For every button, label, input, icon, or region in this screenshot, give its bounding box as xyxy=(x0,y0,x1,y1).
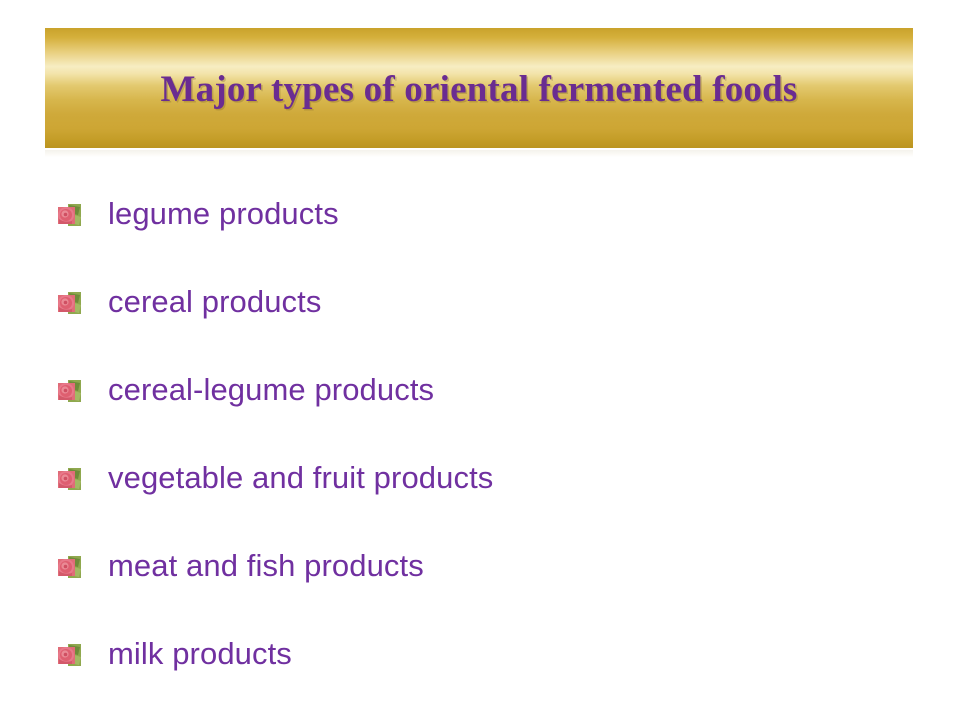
list-item-label: vegetable and fruit products xyxy=(108,450,493,493)
list-item-label: cereal products xyxy=(108,274,321,317)
presentation-slide: Major types of oriental fermented foods … xyxy=(0,0,960,720)
page-title: Major types of oriental fermented foods xyxy=(161,71,798,108)
list-item-label: milk products xyxy=(108,626,292,669)
rose-bullet-icon xyxy=(58,379,82,403)
rose-bullet-icon xyxy=(58,555,82,579)
list-item: cereal-legume products xyxy=(58,362,938,450)
rose-bullet-icon xyxy=(58,467,82,491)
list-item: cereal products xyxy=(58,274,938,362)
title-banner: Major types of oriental fermented foods xyxy=(45,28,913,148)
list-item: milk products xyxy=(58,626,938,714)
list-item-label: meat and fish products xyxy=(108,538,424,581)
rose-bullet-icon xyxy=(58,291,82,315)
list-item-label: cereal-legume products xyxy=(108,362,434,405)
banner-underline-divider xyxy=(45,150,913,157)
list-item: legume products xyxy=(58,186,938,274)
list-item: meat and fish products xyxy=(58,538,938,626)
bullet-list: legume products cereal products xyxy=(58,186,938,714)
rose-bullet-icon xyxy=(58,643,82,667)
list-item-label: legume products xyxy=(108,186,339,229)
rose-bullet-icon xyxy=(58,203,82,227)
list-item: vegetable and fruit products xyxy=(58,450,938,538)
